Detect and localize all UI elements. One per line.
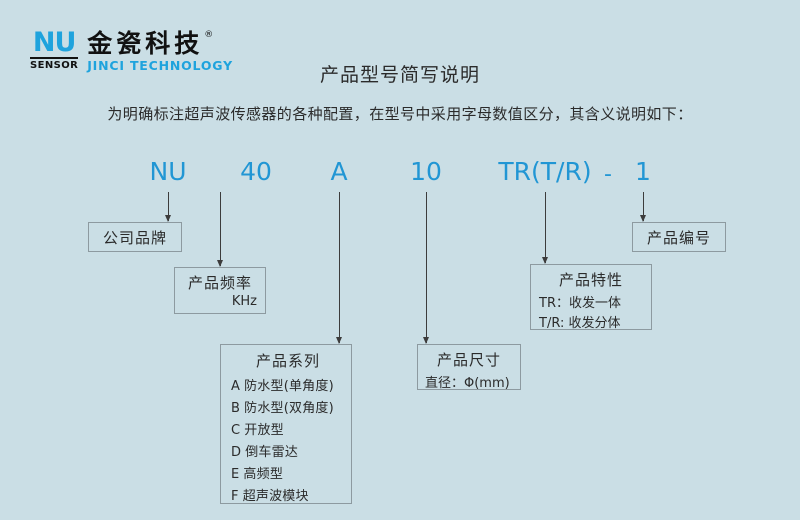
frequency-box: 产品频率 KHz xyxy=(174,267,266,314)
model-part-separator: - xyxy=(604,160,612,190)
arrow-to-series xyxy=(339,192,340,343)
frequency-box-unit: KHz xyxy=(183,294,257,309)
product-number-box-title: 产品编号 xyxy=(647,227,711,248)
arrow-to-size xyxy=(426,192,427,343)
series-code-f: F xyxy=(231,489,239,504)
model-part-frequency: 40 xyxy=(240,157,272,187)
series-label-b: 防水型(双角度) xyxy=(244,401,334,416)
series-code-a: A xyxy=(231,379,240,394)
series-label-e: 高频型 xyxy=(243,467,283,482)
series-label-f: 超声波模块 xyxy=(243,489,309,504)
series-box: 产品系列 A防水型(单角度) B防水型(双角度) C开放型 D倒车雷达 E高频型… xyxy=(220,344,352,504)
feature-box-line-t-r: T/R: 收发分体 xyxy=(539,312,643,331)
registered-trademark-icon: ® xyxy=(204,30,213,40)
series-code-b: B xyxy=(231,401,240,416)
arrow-to-feature xyxy=(545,192,546,263)
series-label-a: 防水型(单角度) xyxy=(244,379,334,394)
product-number-box: 产品编号 xyxy=(632,222,726,252)
series-label-c: 开放型 xyxy=(244,423,284,438)
model-number-explanation-page: NU SENSOR 金瓷科技 ® JINCI TECHNOLOGY 产品型号简写… xyxy=(0,0,800,520)
series-code-d: D xyxy=(231,445,241,460)
model-part-number: 1 xyxy=(635,157,651,187)
series-item-b: B防水型(双角度) xyxy=(231,397,345,416)
brand-box: 公司品牌 xyxy=(88,222,182,252)
brand-box-title: 公司品牌 xyxy=(103,227,167,248)
logo-nu-text: NU xyxy=(33,30,76,56)
logo-divider-rule xyxy=(30,57,78,59)
logo-chinese-row: 金瓷科技 ® xyxy=(87,30,233,57)
feature-box: 产品特性 TR：收发一体 T/R: 收发分体 xyxy=(530,264,652,330)
model-part-brand: NU xyxy=(150,157,187,187)
feature-box-line-tr: TR：收发一体 xyxy=(539,292,643,311)
series-code-c: C xyxy=(231,423,240,438)
series-item-f: F超声波模块 xyxy=(231,485,345,504)
series-item-d: D倒车雷达 xyxy=(231,441,345,460)
frequency-box-title: 产品频率 xyxy=(183,272,257,293)
arrow-to-frequency xyxy=(220,192,221,266)
series-item-e: E高频型 xyxy=(231,463,345,482)
series-item-a: A防水型(单角度) xyxy=(231,375,345,394)
feature-box-title: 产品特性 xyxy=(539,269,643,290)
arrow-to-brand xyxy=(168,192,169,221)
model-part-size: 10 xyxy=(410,157,442,187)
series-item-c: C开放型 xyxy=(231,419,345,438)
series-code-e: E xyxy=(231,467,239,482)
series-box-title: 产品系列 xyxy=(231,350,345,371)
model-part-feature: TR(T/R) xyxy=(498,157,591,187)
page-title: 产品型号简写说明 xyxy=(0,60,800,87)
page-subtitle: 为明确标注超声波传感器的各种配置，在型号中采用字母数值区分，其含义说明如下： xyxy=(0,103,800,124)
logo-company-cn: 金瓷科技 xyxy=(87,30,203,57)
model-part-series: A xyxy=(330,157,347,187)
size-box-title: 产品尺寸 xyxy=(425,349,513,370)
size-box: 产品尺寸 直径：Φ(mm) xyxy=(417,344,521,390)
size-box-detail: 直径：Φ(mm) xyxy=(425,372,513,391)
arrow-to-number xyxy=(643,192,644,221)
series-label-d: 倒车雷达 xyxy=(245,445,298,460)
